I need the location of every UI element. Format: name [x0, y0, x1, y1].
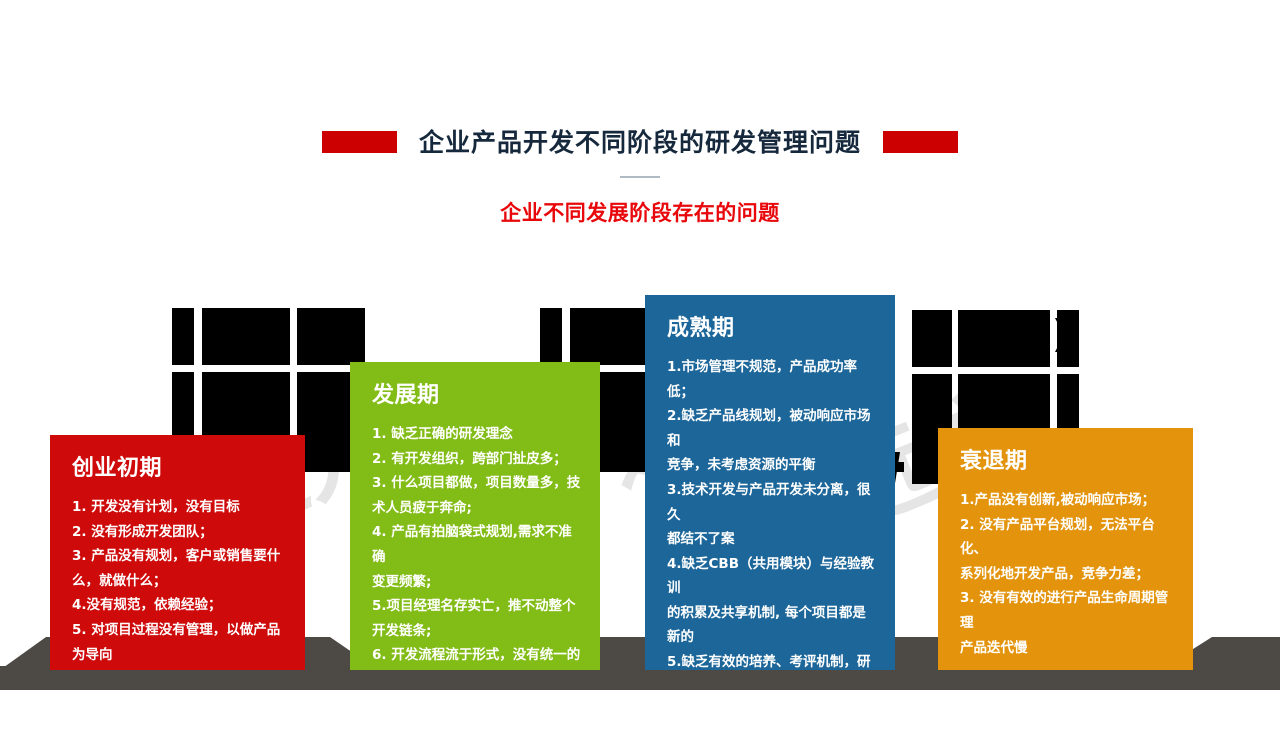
card-list-item: 1. 开发没有计划，没有目标 — [72, 495, 287, 520]
card-list-item: 套路 — [372, 668, 582, 670]
card-list-item: 产品迭代慢 — [960, 636, 1175, 661]
card-title: 发展期 — [372, 384, 582, 408]
decorative-block — [1055, 318, 1077, 352]
card-list-item: 么，就做什么； — [72, 569, 287, 594]
decorative-glyph-left — [345, 318, 375, 352]
card-list-item: 1. 缺乏正确的研发理念 — [372, 422, 582, 447]
decorative-glyph-right — [1055, 318, 1085, 352]
decorative-block — [202, 308, 290, 365]
card-list-item: 2. 没有产品平台规划，无法平台化、 — [960, 513, 1175, 562]
card-list-item: 2.缺乏产品线规划，被动响应市场和 — [667, 404, 877, 453]
decorative-block — [345, 318, 365, 352]
card-item-list: 1. 缺乏正确的研发理念 2. 有开发组织，跨部门扯皮多； 3. 什么项目都做，… — [372, 422, 582, 670]
decorative-block — [958, 310, 1050, 367]
card-item-list: 1. 开发没有计划，没有目标 2. 没有形成开发团队； 3. 产品没有规划，客户… — [72, 495, 287, 667]
decorative-block — [912, 310, 952, 367]
card-list-item: 4.没有规范，依赖经验； — [72, 593, 287, 618]
card-list-item: 1.市场管理不规范，产品成功率低； — [667, 355, 877, 404]
title-accent-bar-right — [883, 131, 958, 153]
card-title: 创业初期 — [72, 457, 287, 481]
decorative-block — [172, 308, 194, 365]
card-title: 衰退期 — [960, 450, 1175, 474]
slide-canvas: 远方 远方 远方 创业初期 1. 开发没有计划，没有目标 2. 没有形成开发团队… — [0, 0, 1280, 740]
card-list-item: 3. 没有有效的进行产品生命周期管理 — [960, 586, 1175, 635]
card-list-item: 变更频繁; — [372, 570, 582, 595]
page-subtitle: 企业不同发展阶段存在的问题 — [0, 203, 1280, 224]
card-list-item: 1.产品没有创新,被动响应市场； — [960, 488, 1175, 513]
card-list-item: 3.技术开发与产品开发未分离，很久 — [667, 478, 877, 527]
card-list-item: 2. 有开发组织，跨部门扯皮多； — [372, 447, 582, 472]
card-list-item: 6. 开发流程流于形式，没有统一的 — [372, 643, 582, 668]
card-list-item: 术人员疲于奔命; — [372, 496, 582, 521]
decorative-block — [172, 372, 194, 444]
card-item-list: 1.产品没有创新,被动响应市场； 2. 没有产品平台规划，无法平台化、 系列化地… — [960, 488, 1175, 660]
card-list-item: 4. 产品有拍脑袋式规划,需求不准确 — [372, 520, 582, 569]
card-list-item: 3. 产品没有规划，客户或销售要什 — [72, 544, 287, 569]
card-list-item: 为导向 — [72, 643, 287, 668]
card-item-list: 1.市场管理不规范，产品成功率低； 2.缺乏产品线规划，被动响应市场和 竞争，未… — [667, 355, 877, 670]
card-list-item: 5.项目经理名存实亡，推不动整个 — [372, 594, 582, 619]
card-list-item: 竞争，未考虑资源的平衡 — [667, 453, 877, 478]
card-list-item: 5.缺乏有效的培养、考评机制，研发 — [667, 650, 877, 670]
card-list-item: 4.缺乏CBB（共用模块）与经验教训 — [667, 552, 877, 601]
stage-card-growth[interactable]: 发展期 1. 缺乏正确的研发理念 2. 有开发组织，跨部门扯皮多； 3. 什么项… — [350, 362, 600, 670]
page-title: 企业产品开发不同阶段的研发管理问题 — [419, 130, 861, 155]
decorative-block — [540, 308, 562, 365]
card-title: 成熟期 — [667, 317, 877, 341]
title-row: 企业产品开发不同阶段的研发管理问题 — [0, 122, 1280, 162]
stage-card-decline[interactable]: 衰退期 1.产品没有创新,被动响应市场； 2. 没有产品平台规划，无法平台化、 … — [938, 428, 1193, 670]
card-list-item: 2. 没有形成开发团队； — [72, 520, 287, 545]
card-list-item: 都结不了案 — [667, 527, 877, 552]
title-accent-bar-left — [322, 131, 397, 153]
stage-card-startup[interactable]: 创业初期 1. 开发没有计划，没有目标 2. 没有形成开发团队； 3. 产品没有… — [50, 435, 305, 670]
card-list-item: 的积累及共享机制, 每个项目都是新的 — [667, 601, 877, 650]
card-list-item: 系列化地开发产品，竞争力差； — [960, 562, 1175, 587]
card-list-item: 开发链条; — [372, 619, 582, 644]
stage-card-mature[interactable]: 成熟期 1.市场管理不规范，产品成功率低； 2.缺乏产品线规划，被动响应市场和 … — [645, 295, 895, 670]
title-divider — [620, 176, 660, 178]
card-list-item: 5. 对项目过程没有管理，以做产品 — [72, 618, 287, 643]
card-list-item: 3. 什么项目都做，项目数量多，技 — [372, 471, 582, 496]
